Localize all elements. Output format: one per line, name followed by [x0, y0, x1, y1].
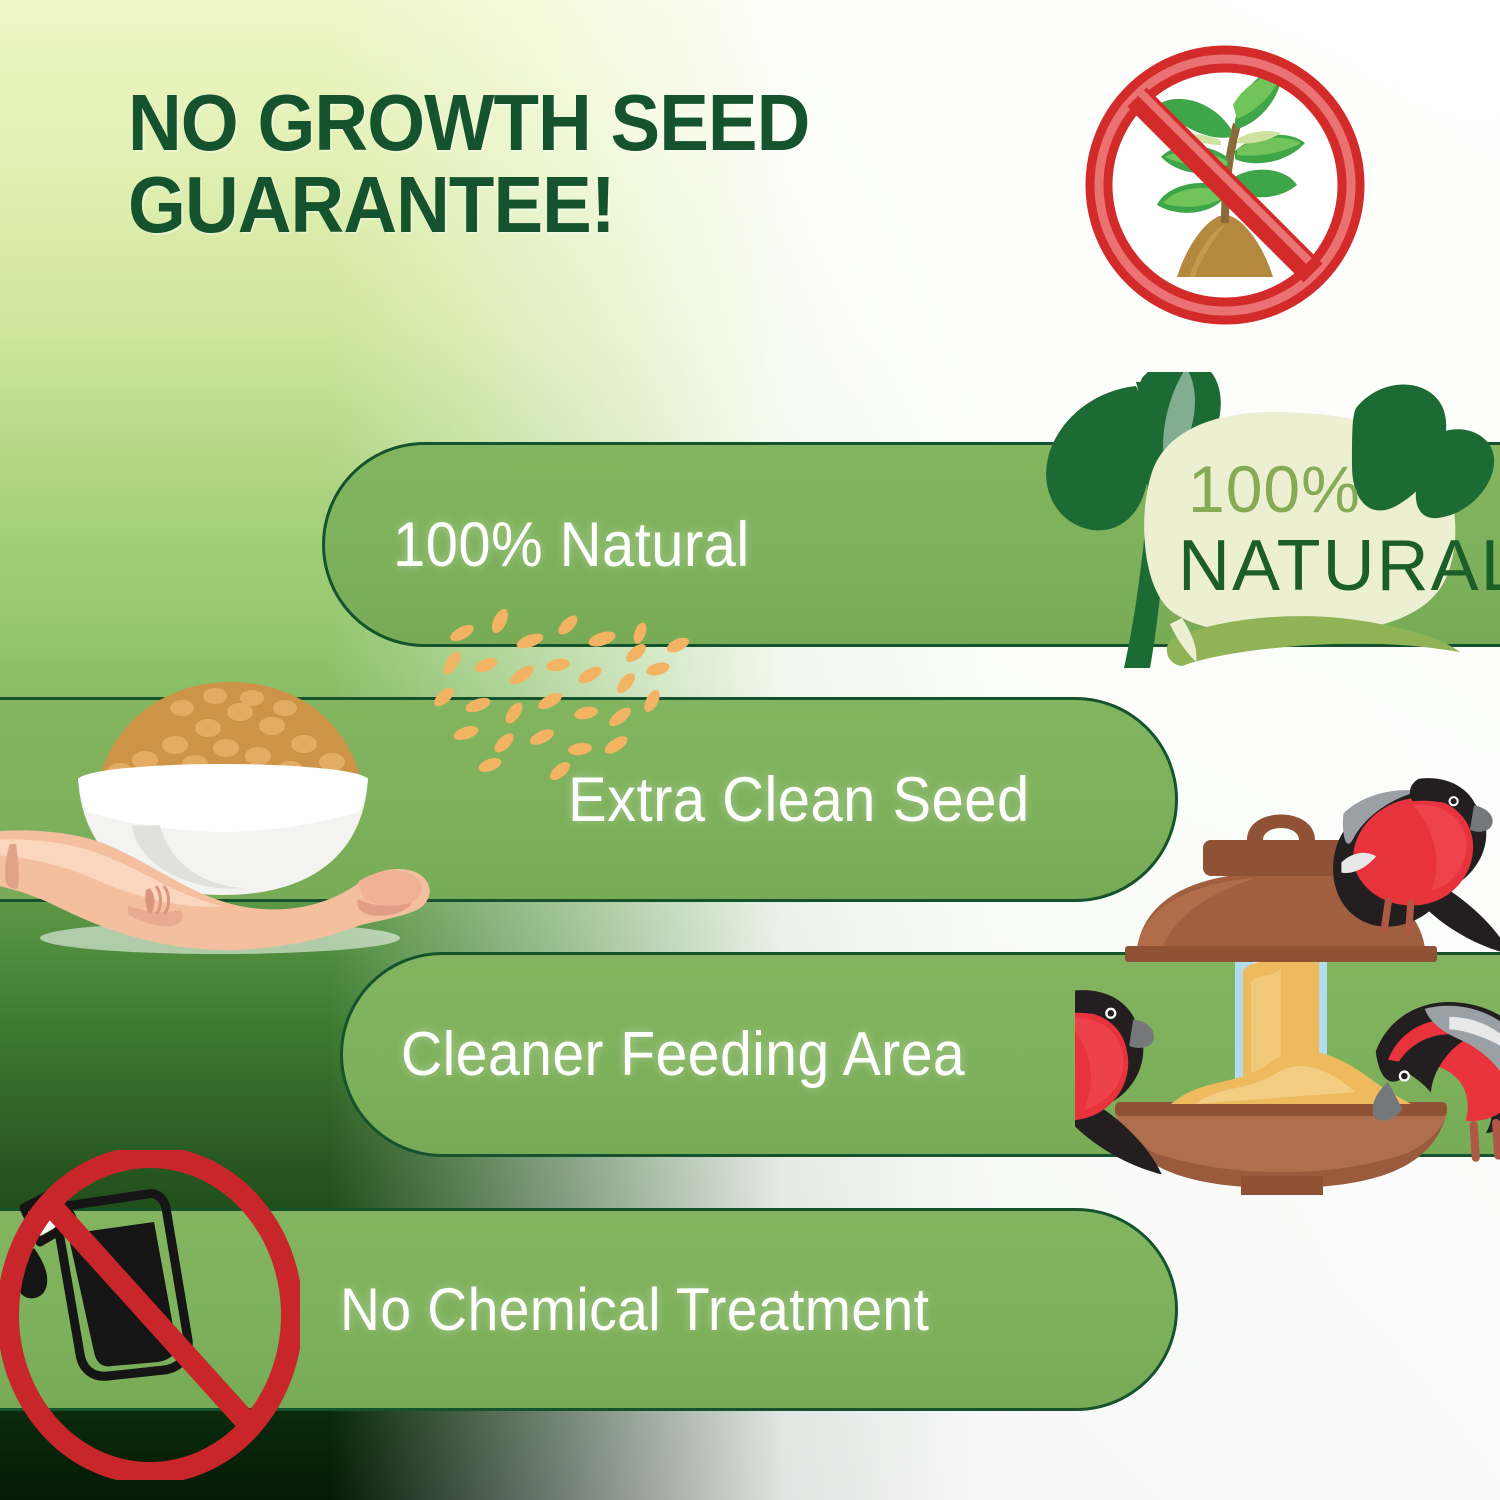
feature-label-cleaner-feeding-area: Cleaner Feeding Area: [401, 1019, 965, 1090]
badge-percent-text: 100%: [1188, 452, 1361, 526]
infographic-canvas: 100% Natural Extra Clean Seed Cleaner Fe…: [0, 0, 1500, 1500]
no-chemical-flask-icon: [0, 1150, 300, 1480]
feature-label-natural: 100% Natural: [393, 509, 750, 581]
no-plant-growth-icon: [1085, 45, 1365, 325]
hand-holding-seed-bowl-illustration: [0, 660, 520, 960]
feature-label-no-chemical-treatment: No Chemical Treatment: [340, 1275, 929, 1344]
page-title: NO GROWTH SEED GUARANTEE!: [128, 82, 965, 245]
hundred-percent-natural-badge: 100% NATURAL: [1000, 372, 1500, 672]
bird-feeder-illustration: [1075, 720, 1500, 1195]
badge-natural-text: NATURAL: [1178, 526, 1500, 606]
